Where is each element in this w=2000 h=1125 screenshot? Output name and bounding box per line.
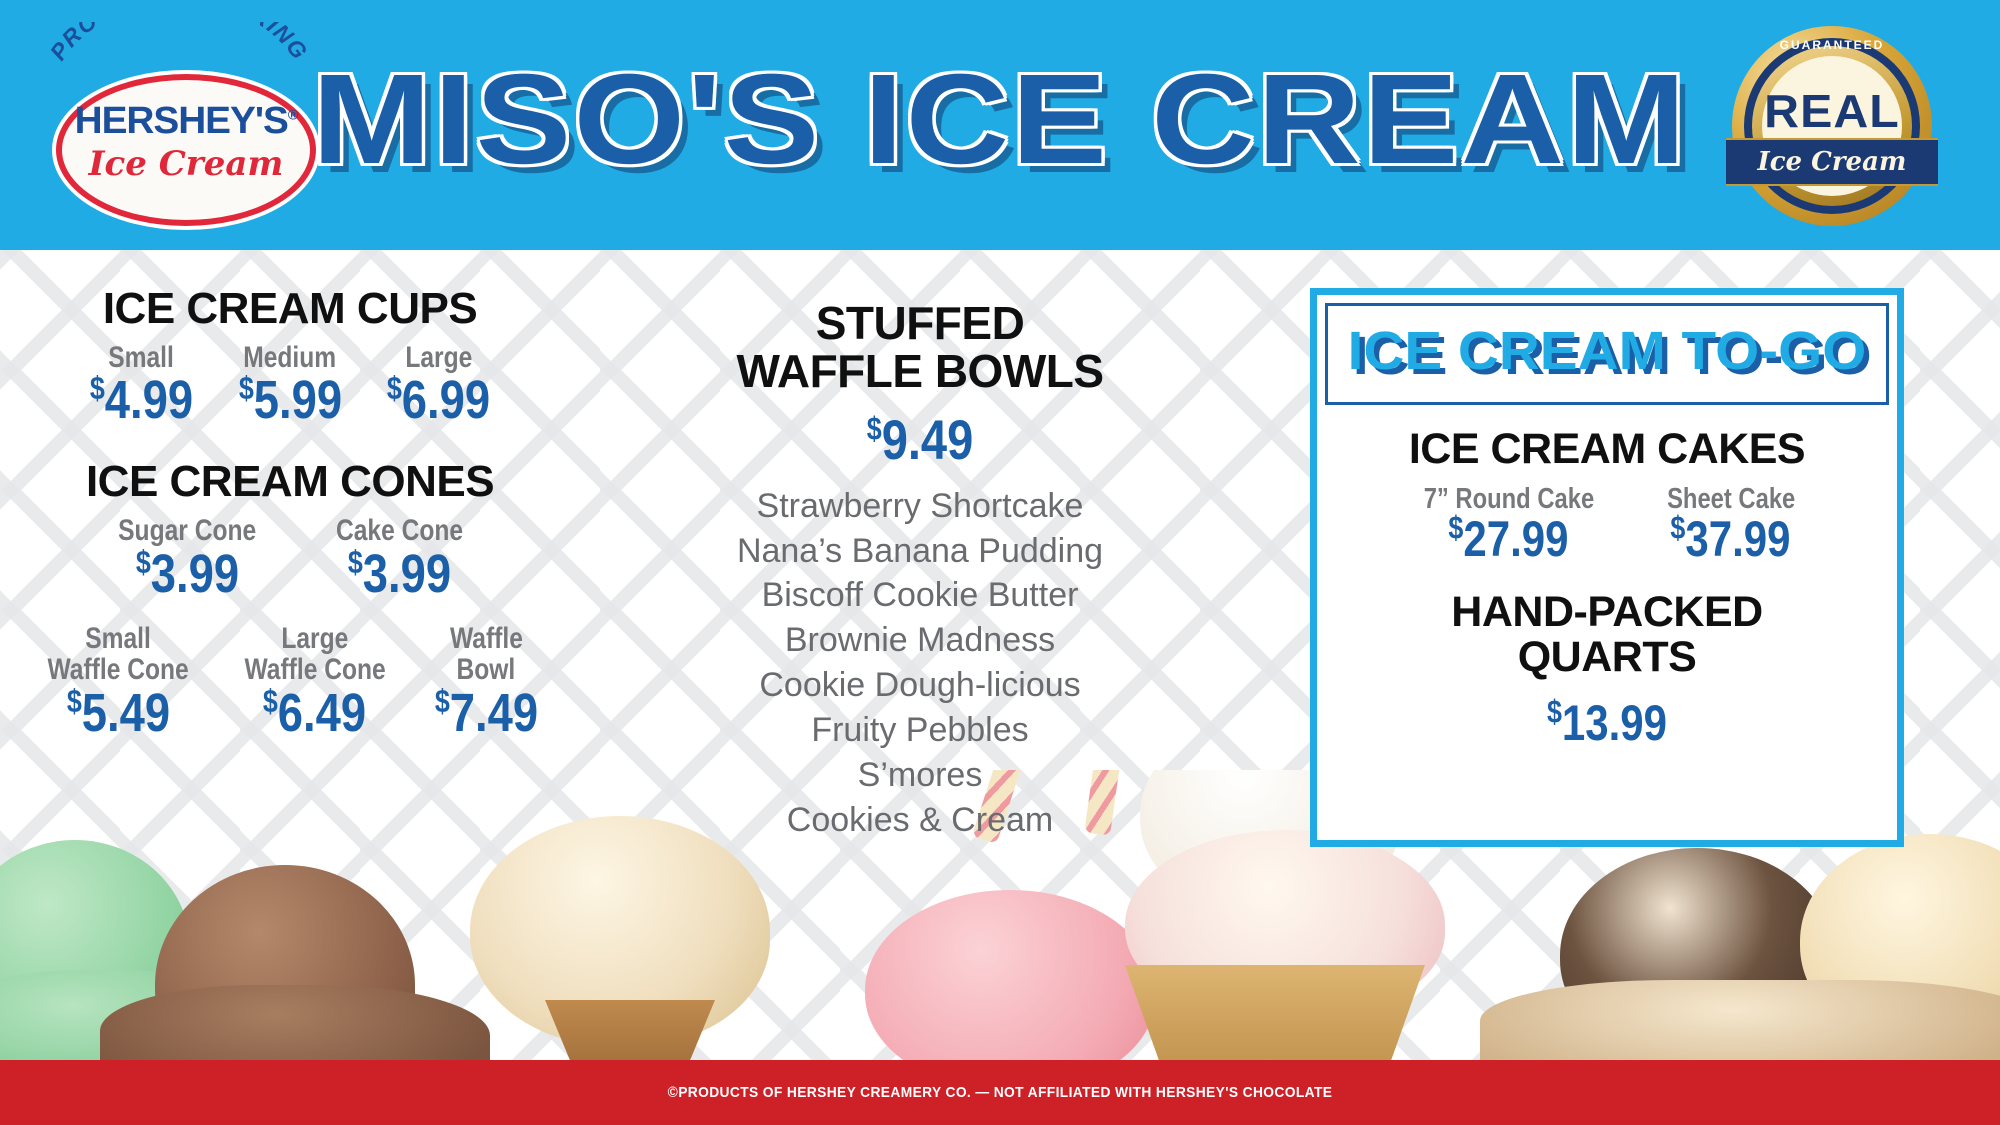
footer-bar: ©PRODUCTS OF HERSHEY CREAMERY CO. — NOT … — [0, 1060, 2000, 1125]
ice-cream-cakes-heading: ICE CREAM CAKES — [1327, 427, 1887, 472]
price-value: 27.99 — [1464, 511, 1569, 567]
price-value: 37.99 — [1686, 511, 1791, 567]
currency-symbol: $ — [263, 683, 278, 719]
currency-symbol: $ — [1449, 510, 1464, 546]
large-waffle-cone-label-line2: Waffle Cone — [244, 654, 385, 686]
ice-cream-to-go-title: ICE CREAM TO-GO — [1314, 320, 1900, 382]
small-waffle-cone-label-line1: Small — [86, 623, 152, 655]
left-menu-column: ICE CREAM CUPS Small $4.99 Medium $5.99 … — [20, 286, 560, 740]
ice-cream-to-go-panel: ICE CREAM TO-GO ICE CREAM CAKES 7” Round… — [1310, 288, 1904, 847]
cup-medium-price: $5.99 — [238, 373, 341, 427]
currency-symbol: $ — [348, 544, 363, 580]
large-waffle-cone-price: $6.49 — [263, 686, 366, 740]
price-value: 9.49 — [882, 408, 974, 471]
price-value: 5.99 — [253, 370, 341, 430]
price-value: 6.99 — [402, 370, 490, 430]
price-value: 3.99 — [151, 544, 239, 604]
currency-symbol: $ — [867, 410, 882, 446]
price-value: 5.49 — [82, 683, 170, 743]
currency-symbol: $ — [238, 370, 253, 406]
price-value: 4.99 — [104, 370, 192, 430]
cup-large-label: Large — [405, 342, 472, 374]
ice-cream-to-go-header-box: ICE CREAM TO-GO — [1325, 303, 1889, 405]
flavor-item: Brownie Madness — [600, 618, 1240, 663]
price-item-round-cake: 7” Round Cake $27.99 — [1405, 484, 1613, 564]
stuffed-waffle-bowls-heading-line2: WAFFLE BOWLS — [600, 348, 1240, 396]
cake-cone-price: $3.99 — [348, 547, 451, 601]
flavor-item: S’mores — [600, 753, 1240, 798]
flavor-item: Biscoff Cookie Butter — [600, 573, 1240, 618]
flavor-item: Cookie Dough-licious — [600, 663, 1240, 708]
ice-cream-cups-price-row: Small $4.99 Medium $5.99 Large $6.99 — [20, 342, 560, 428]
cup-large-price: $6.99 — [387, 373, 490, 427]
flavor-item: Fruity Pebbles — [600, 708, 1240, 753]
hand-packed-quarts-heading-line1: HAND-PACKED — [1327, 590, 1887, 635]
price-item-cake-cone: Cake Cone $3.99 — [322, 515, 477, 601]
price-item-large-waffle-cone: Large Waffle Cone $6.49 — [229, 623, 401, 740]
stuffed-waffle-bowls-flavor-list: Strawberry Shortcake Nana’s Banana Puddi… — [600, 484, 1240, 843]
footer-disclaimer-text: ©PRODUCTS OF HERSHEY CREAMERY CO. — NOT … — [80, 1060, 1920, 1125]
ice-cream-cones-price-row: Sugar Cone $3.99 Cake Cone $3.99 — [20, 515, 560, 601]
round-cake-price: $27.99 — [1449, 514, 1569, 564]
stuffed-waffle-bowls-heading-line1: STUFFED — [600, 300, 1240, 348]
currency-symbol: $ — [89, 370, 104, 406]
cup-small-label: Small — [108, 342, 174, 374]
strawberry-scoop-photo — [865, 890, 1155, 1075]
currency-symbol: $ — [1547, 693, 1562, 729]
sugar-cone-price: $3.99 — [136, 547, 239, 601]
guaranteed-real-ice-cream-badge: GUARANTEED REAL Ice Cream — [1732, 26, 1932, 226]
badge-ribbon: Ice Cream — [1726, 138, 1938, 186]
price-item-sugar-cone: Sugar Cone $3.99 — [103, 515, 271, 601]
small-waffle-cone-price: $5.49 — [67, 686, 170, 740]
digital-menu-board: PROUDLY FEATURING HERSHEY'S® Ice Cream M… — [0, 0, 2000, 1125]
cup-medium-label: Medium — [244, 342, 337, 374]
badge-ribbon-text: Ice Cream — [1726, 140, 1938, 184]
ice-cream-cups-heading: ICE CREAM CUPS — [20, 286, 560, 332]
badge-real-text: REAL — [1727, 84, 1937, 138]
large-waffle-cone-label-line1: Large — [281, 623, 348, 655]
flavor-item: Nana’s Banana Pudding — [600, 529, 1240, 574]
price-value: 7.49 — [450, 683, 538, 743]
page-title: MISO'S ICE CREAM — [0, 56, 2000, 184]
ice-cream-cones-heading: ICE CREAM CONES — [20, 459, 560, 505]
ice-cream-cakes-price-row: 7” Round Cake $27.99 Sheet Cake $37.99 — [1327, 484, 1887, 564]
price-item-sheet-cake: Sheet Cake $37.99 — [1653, 484, 1809, 564]
price-item-small-waffle-cone: Small Waffle Cone $5.49 — [32, 623, 204, 740]
price-value: 6.49 — [278, 683, 366, 743]
sugar-cone-label: Sugar Cone — [118, 515, 256, 547]
waffle-bowl-price: $7.49 — [435, 686, 538, 740]
cup-small-price: $4.99 — [89, 373, 192, 427]
price-item-cup-medium: Medium $5.99 — [229, 342, 352, 428]
price-item-cup-large: Large $6.99 — [377, 342, 500, 428]
waffle-cone-price-row: Small Waffle Cone $5.49 Large Waffle Con… — [20, 623, 560, 740]
stuffed-waffle-bowls-price: $9.49 — [651, 412, 1189, 468]
hand-packed-quarts-heading-line2: QUARTS — [1327, 635, 1887, 680]
currency-symbol: $ — [387, 370, 402, 406]
flavor-item: Cookies & Cream — [600, 798, 1240, 843]
small-waffle-cone-label-line2: Waffle Cone — [48, 654, 189, 686]
price-item-waffle-bowl: Waffle Bowl $7.49 — [425, 623, 548, 740]
hand-packed-quarts-price: $13.99 — [1372, 698, 1842, 748]
stuffed-waffle-bowls-column: STUFFED WAFFLE BOWLS $9.49 Strawberry Sh… — [600, 300, 1240, 843]
waffle-bowl-label-line1: Waffle — [450, 623, 523, 655]
currency-symbol: $ — [136, 544, 151, 580]
sheet-cake-price: $37.99 — [1671, 514, 1791, 564]
ice-cream-to-go-body: ICE CREAM CAKES 7” Round Cake $27.99 She… — [1317, 413, 1897, 748]
sheet-cake-label: Sheet Cake — [1667, 484, 1795, 514]
flavor-item: Strawberry Shortcake — [600, 484, 1240, 529]
currency-symbol: $ — [1671, 510, 1686, 546]
badge-guaranteed-text: GUARANTEED — [1732, 38, 1932, 52]
sundae-waffle-bowl-photo — [1125, 965, 1425, 1075]
price-item-cup-small: Small $4.99 — [80, 342, 203, 428]
price-value: 13.99 — [1562, 695, 1667, 751]
price-value: 3.99 — [363, 544, 451, 604]
currency-symbol: $ — [435, 683, 450, 719]
currency-symbol: $ — [67, 683, 82, 719]
waffle-bowl-label-line2: Bowl — [457, 654, 516, 686]
cake-cone-label: Cake Cone — [336, 515, 463, 547]
header-bar: PROUDLY FEATURING HERSHEY'S® Ice Cream M… — [0, 0, 2000, 250]
